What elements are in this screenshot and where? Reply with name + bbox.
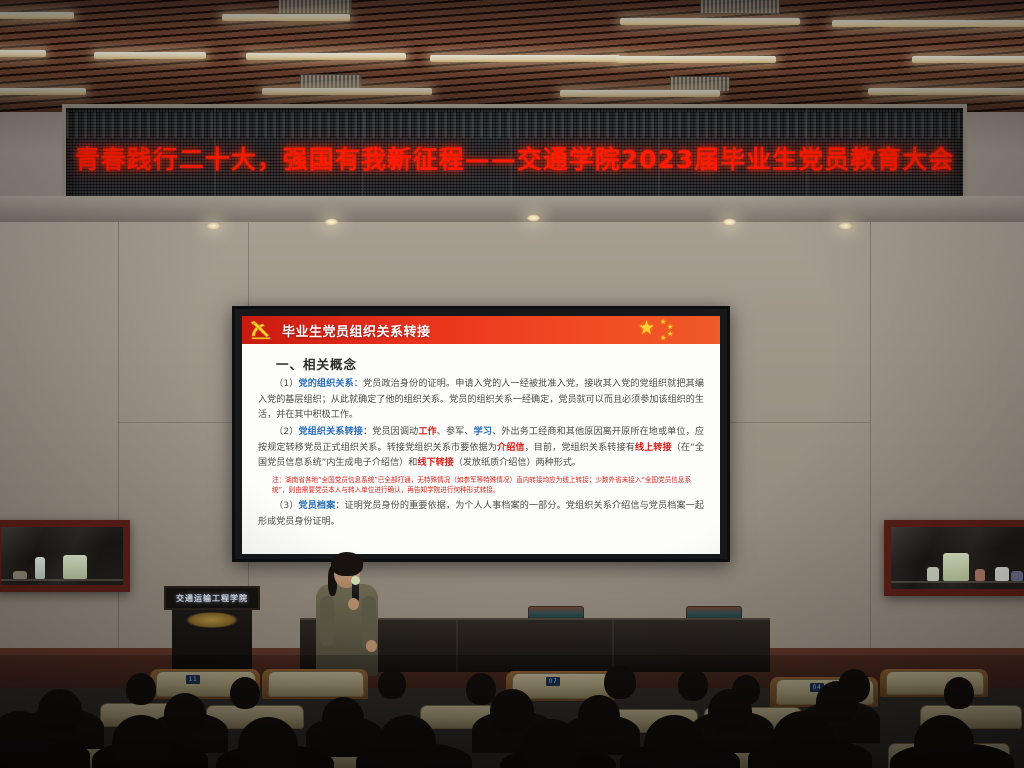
- slide-header: 毕业生党员组织关系转接 ★ ★ ★ ★ ★: [242, 316, 720, 344]
- podium-gold-emblem-icon: [186, 612, 238, 628]
- slide-paragraph-1: （1）党的组织关系：党员政治身份的证明。申请入党的人一经被批准入党，接收其入党的…: [258, 377, 704, 424]
- party-emblem-hammer-sickle-icon: [248, 319, 274, 341]
- recessed-downlight: [324, 218, 339, 226]
- para2-kw-offline: 线下转接: [417, 458, 453, 468]
- slide-red-note: 注：湖南省各地“全国党员信息系统”已全部打通，无特殊情况（如参军等特殊情况）直内…: [272, 475, 704, 496]
- slide-section-title: 一、相关概念: [276, 354, 704, 373]
- audience-head: [378, 669, 406, 699]
- wall-panel: [118, 222, 249, 423]
- para1-label: （1）: [274, 379, 298, 389]
- flag-small-star: ★: [660, 335, 666, 342]
- flag-small-star: ★: [660, 319, 666, 326]
- audience-head: [490, 689, 534, 733]
- para2-kw-work: 工作: [418, 427, 436, 437]
- recessed-downlight: [722, 218, 737, 226]
- para2-kw-online: 线上转接: [635, 443, 672, 453]
- wall-panel: [0, 222, 119, 663]
- slide-paragraph-2: （2）党组织关系转接：党员因调动工作、参军、学习、外出务工经商和其他原因离开原所…: [258, 425, 704, 472]
- audience-head: [378, 715, 436, 768]
- led-banner-text: 青春践行二十大，强国有我新征程——交通学院2023届毕业生党员教育大会: [66, 140, 963, 176]
- flag-small-star: ★: [667, 324, 673, 331]
- audience-head: [230, 677, 260, 709]
- para2-text-2: 、参军、: [437, 427, 474, 437]
- audience-area: 11 07 04 06: [0, 655, 1024, 768]
- audience-head: [604, 665, 636, 699]
- podium-sign-panel: 交通运输工程学院: [164, 586, 260, 610]
- recessed-downlight: [206, 222, 221, 230]
- para2-kw-letter: 介绍信: [497, 443, 525, 453]
- para2-text-6: （发放纸质介绍信）两种形式。: [454, 458, 581, 468]
- microphone-head-icon: [351, 576, 360, 585]
- wall-panel: [730, 222, 871, 423]
- audience-head: [238, 717, 298, 768]
- presentation-slide: 毕业生党员组织关系转接 ★ ★ ★ ★ ★ 一、相关概念 （1）党的组织关系：党…: [242, 316, 720, 554]
- para2-text-1: ：党员因调动: [363, 427, 418, 437]
- seat-number-plate: 07: [546, 677, 560, 686]
- para3-keyword: 党员档案: [298, 501, 335, 511]
- para2-keyword: 党组织关系转接: [298, 427, 363, 437]
- audience-head: [708, 689, 752, 733]
- seat-number-plate: 11: [186, 675, 200, 684]
- audience-head: [164, 693, 206, 735]
- audience-head: [678, 669, 708, 701]
- audience-head: [578, 695, 620, 737]
- display-case-glass: [891, 527, 1024, 589]
- flag-big-star: ★: [638, 319, 655, 338]
- speaker-hand-lower: [366, 640, 377, 652]
- para2-label: （2）: [274, 427, 298, 437]
- display-case-right: [884, 520, 1024, 596]
- seat-back: [268, 671, 364, 697]
- speaker-arm-left: [320, 596, 334, 646]
- slide-paragraph-3: （3）党员档案：证明党员身份的重要依据，为个人人事档案的一部分。党组织关系介绍信…: [258, 499, 704, 530]
- display-case-glass: [1, 527, 123, 585]
- para2-text-4: ，目前，党组织关系转接有: [525, 443, 635, 453]
- para2-kw-study: 学习: [474, 427, 492, 437]
- audience-head: [914, 715, 974, 768]
- audience-head: [644, 715, 704, 768]
- slide-body: 一、相关概念 （1）党的组织关系：党员政治身份的证明。申请入党的人一经被批准入党…: [242, 344, 720, 530]
- audience-head: [322, 697, 364, 739]
- slide-title: 毕业生党员组织关系转接: [282, 321, 431, 340]
- flag-small-star: ★: [667, 331, 673, 338]
- display-case-left: [0, 520, 130, 592]
- audience-head: [522, 719, 580, 768]
- auditorium-photo: 青春践行二十大，强国有我新征程——交通学院2023届毕业生党员教育大会: [0, 0, 1024, 768]
- audience-head: [126, 673, 156, 705]
- recessed-downlight: [838, 222, 853, 230]
- recessed-downlight: [526, 214, 541, 222]
- audience-head: [772, 711, 834, 768]
- china-flag-stars-icon: ★ ★ ★ ★ ★: [638, 319, 712, 341]
- audience-head: [112, 715, 170, 768]
- podium-sign-text: 交通运输工程学院: [176, 593, 248, 604]
- led-upper-noise: [66, 112, 963, 138]
- ceiling: [0, 0, 1024, 118]
- speaker-hand-on-mic: [348, 598, 359, 610]
- para3-label: （3）: [274, 501, 298, 511]
- speaker-hair: [331, 552, 363, 576]
- ceiling-shading: [0, 0, 1024, 118]
- wall-panel: [870, 222, 1024, 663]
- para1-keyword: 党的组织关系: [298, 379, 353, 389]
- audience-head: [944, 677, 974, 709]
